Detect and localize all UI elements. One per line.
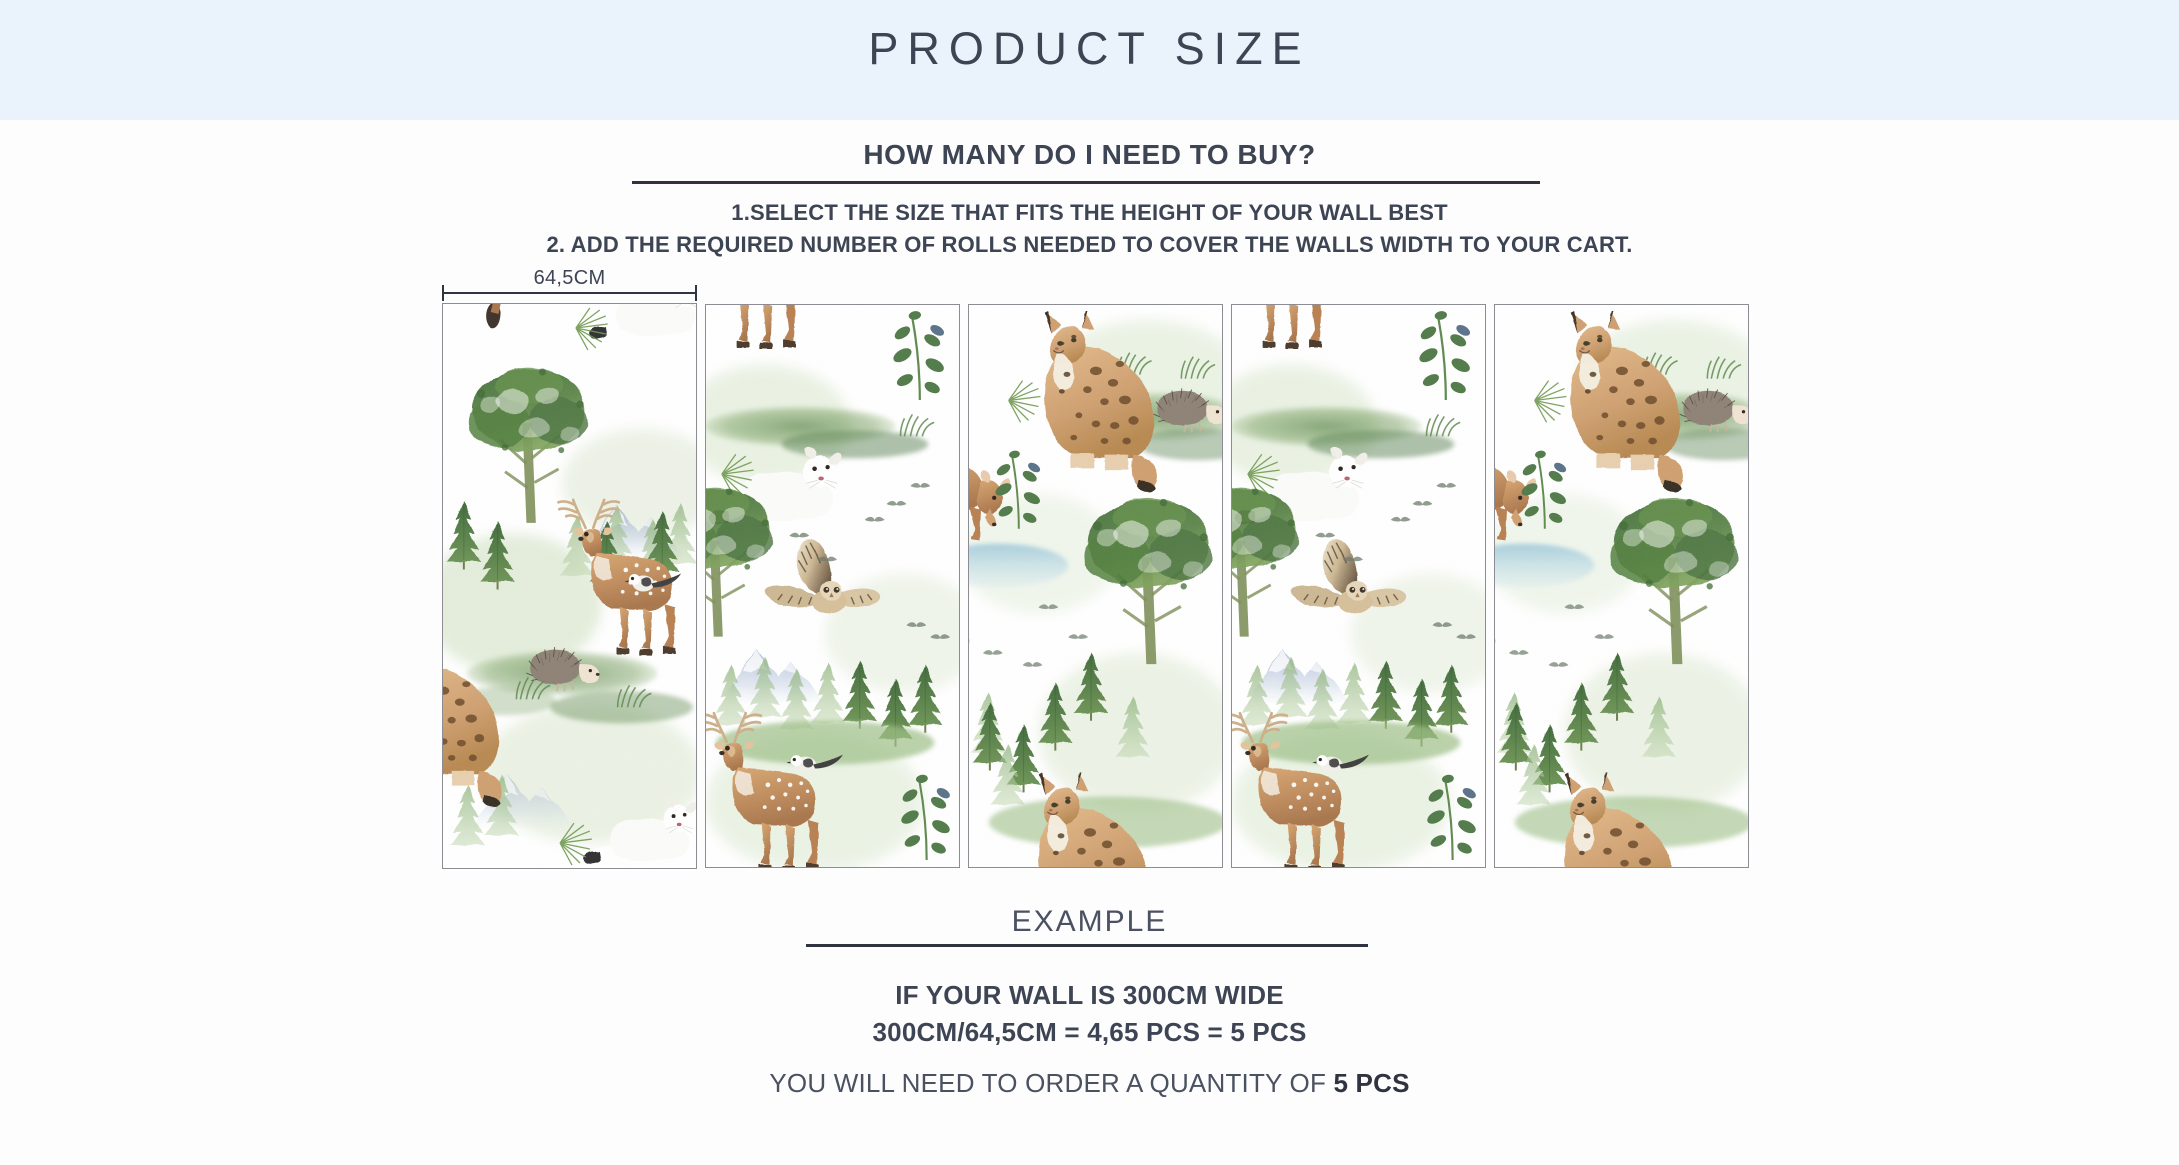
panel-art-5 [1495, 305, 1748, 867]
instructions-divider [632, 181, 1540, 184]
instructions-heading: HOW MANY DO I NEED TO BUY? [0, 139, 2179, 171]
dimension-line [442, 292, 697, 294]
panel-art-2 [706, 305, 959, 867]
product-size-page: PRODUCT SIZE HOW MANY DO I NEED TO BUY? … [0, 0, 2179, 1165]
panel-art-1 [443, 304, 696, 868]
roll-width-label: 64,5CM [442, 267, 697, 290]
panel-art-3 [969, 305, 1222, 867]
wallpaper-panel-row [442, 303, 1742, 873]
dimension-cap-right [695, 285, 697, 301]
example-divider [806, 944, 1368, 947]
wallpaper-panel-4[interactable] [1231, 304, 1486, 868]
dimension-cap-left [442, 285, 444, 301]
wallpaper-panel-1[interactable] [442, 303, 697, 869]
example-heading: EXAMPLE [0, 905, 2179, 939]
wallpaper-panel-3[interactable] [968, 304, 1223, 868]
example-conclusion-quantity: 5 PCS [1333, 1068, 1409, 1098]
wallpaper-panel-2[interactable] [705, 304, 960, 868]
wallpaper-panel-5[interactable] [1494, 304, 1749, 868]
instruction-step-2: 2. ADD THE REQUIRED NUMBER OF ROLLS NEED… [0, 232, 2179, 258]
panel-art-4 [1232, 305, 1485, 867]
example-calculation: 300CM/64,5CM = 4,65 PCS = 5 PCS [0, 1017, 2179, 1048]
page-title: PRODUCT SIZE [0, 24, 2179, 74]
instruction-step-1: 1.SELECT THE SIZE THAT FITS THE HEIGHT O… [0, 200, 2179, 226]
example-conclusion: YOU WILL NEED TO ORDER A QUANTITY OF 5 P… [0, 1068, 2179, 1099]
example-conclusion-prefix: YOU WILL NEED TO ORDER A QUANTITY OF [769, 1068, 1333, 1098]
example-wall-width: IF YOUR WALL IS 300CM WIDE [0, 980, 2179, 1011]
